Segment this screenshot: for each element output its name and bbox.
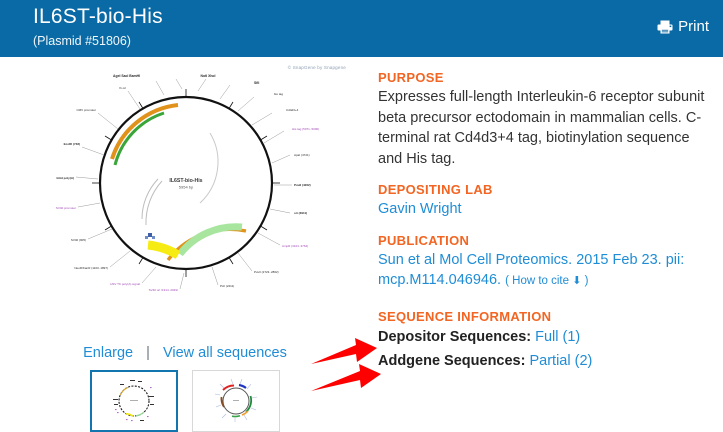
- svg-text:PciI (2411): PciI (2411): [220, 284, 234, 288]
- addgene-sequences-row: Addgene Sequences: Partial (2): [378, 350, 708, 372]
- depositor-map-thumbnail[interactable]: [90, 370, 178, 432]
- purpose-heading: PURPOSE: [378, 70, 708, 85]
- plasmid-map-image[interactable]: IL6ST-bio-His 5954 bp: [18, 67, 354, 291]
- view-all-sequences-link[interactable]: View all sequences: [163, 345, 287, 361]
- map-thumbnail-row: [0, 370, 370, 432]
- svg-text:His tag (5071..5090): His tag (5071..5090): [292, 127, 319, 131]
- enlarge-link[interactable]: Enlarge: [83, 345, 133, 361]
- page-title: IL6ST-bio-His: [33, 5, 163, 29]
- addgene-sequences-label: Addgene Sequences:: [378, 353, 525, 369]
- svg-text:EcoRI (748): EcoRI (748): [64, 142, 80, 146]
- depositor-sequences-row: Depositor Sequences: Full (1): [378, 326, 708, 348]
- svg-text:SV40 ori (1914..2049): SV40 ori (1914..2049): [149, 288, 178, 291]
- plasmid-map-container[interactable]: © SnapGene by Snapgene: [18, 61, 354, 291]
- purpose-text: Expresses full-length Interleukin-6 rece…: [378, 87, 708, 169]
- page-header: IL6ST-bio-His (Plasmid #51806) Print: [0, 0, 723, 57]
- header-title-group: IL6ST-bio-His (Plasmid #51806): [33, 5, 163, 50]
- purpose-section: PURPOSE Expresses full-length Interleuki…: [378, 70, 708, 169]
- links-divider: |: [137, 345, 159, 361]
- svg-text:SV40 promoter: SV40 promoter: [56, 206, 76, 210]
- svg-text:bio tag: bio tag: [274, 92, 283, 96]
- svg-text:AmpR (3104..3764): AmpR (3104..3764): [282, 244, 308, 248]
- svg-text:SfiI: SfiI: [254, 81, 259, 85]
- publication-heading: PUBLICATION: [378, 233, 708, 248]
- depositor-sequences-value-link[interactable]: Full (1): [535, 329, 580, 345]
- how-to-cite-link[interactable]: ( How to cite ⬇ ): [505, 275, 588, 287]
- svg-text:f1 ori: f1 ori: [119, 86, 126, 90]
- svg-text:Cd4d3+4: Cd4d3+4: [286, 108, 299, 112]
- svg-text:ori (3911): ori (3911): [294, 211, 307, 215]
- depositing-lab-heading: DEPOSITING LAB: [378, 182, 708, 197]
- map-center-label: IL6ST-bio-His: [169, 178, 202, 184]
- depositor-sequences-label: Depositor Sequences:: [378, 329, 531, 345]
- how-to-cite-label: How to cite: [512, 275, 569, 287]
- publication-section: PUBLICATION Sun et al Mol Cell Proteomic…: [378, 233, 708, 292]
- how-to-cite-close-paren: ): [585, 275, 589, 287]
- printer-icon: [657, 20, 673, 34]
- svg-text:bGH poly(A): bGH poly(A): [57, 176, 75, 180]
- svg-text:NeoR/KanR (1103..1897): NeoR/KanR (1103..1897): [74, 266, 108, 270]
- addgene-sequences-value-link[interactable]: Partial (2): [529, 353, 592, 369]
- svg-text:CMV promoter: CMV promoter: [76, 108, 96, 112]
- plasmid-id-subtitle: (Plasmid #51806): [33, 33, 163, 50]
- arrow-down-icon: ⬇: [572, 275, 581, 287]
- sequence-information-section: SEQUENCE INFORMATION Depositor Sequences…: [378, 309, 708, 372]
- svg-text:PvuII (2723..2862): PvuII (2723..2862): [254, 270, 279, 274]
- svg-text:SV40 (905): SV40 (905): [71, 238, 86, 242]
- svg-text:ApaI (4721): ApaI (4721): [294, 153, 310, 157]
- svg-text:NotI XhoI: NotI XhoI: [201, 74, 216, 78]
- depositing-lab-section: DEPOSITING LAB Gavin Wright: [378, 182, 708, 220]
- map-center-sublabel: 5954 bp: [179, 185, 194, 190]
- sequence-information-heading: SEQUENCE INFORMATION: [378, 309, 708, 324]
- addgene-map-thumbnail[interactable]: [192, 370, 280, 432]
- print-button[interactable]: Print: [657, 18, 709, 35]
- plasmid-map-column: © SnapGene by Snapgene: [0, 57, 370, 410]
- how-to-cite-open-paren: (: [505, 275, 509, 287]
- svg-text:HSV TK poly(A) signal: HSV TK poly(A) signal: [110, 282, 140, 286]
- depositing-lab-link[interactable]: Gavin Wright: [378, 201, 462, 217]
- print-label: Print: [678, 18, 709, 35]
- svg-text:AgeI SacI BamHI: AgeI SacI BamHI: [113, 74, 140, 78]
- map-links-row: Enlarge | View all sequences: [0, 345, 370, 361]
- svg-text:PvuII (4262): PvuII (4262): [294, 183, 311, 187]
- plasmid-details-column: PURPOSE Expresses full-length Interleuki…: [378, 70, 708, 372]
